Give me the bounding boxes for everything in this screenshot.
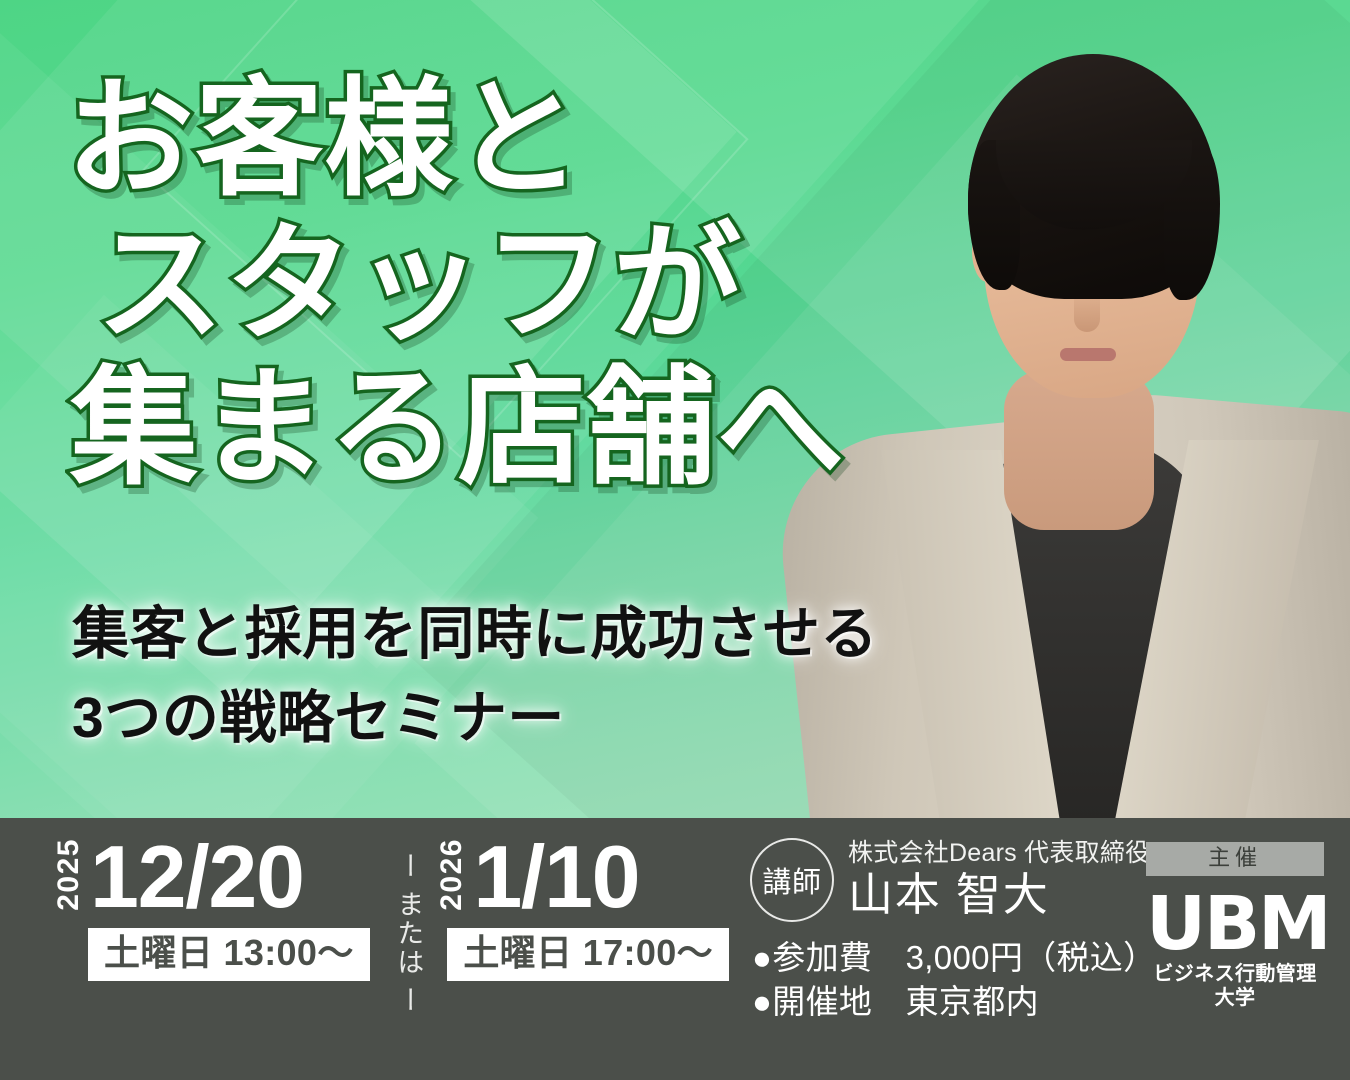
detail-venue: ●開催地 東京都内 <box>752 980 1156 1024</box>
footer-section: 2025 12/20 土曜日 13:00〜 ー または ー 2026 1/10 … <box>0 818 1350 1080</box>
speaker-name: 山本 智大 <box>848 869 1150 921</box>
mouth <box>1060 348 1116 361</box>
instructor-badge: 講師 <box>750 838 834 922</box>
subtitle: 集客と採用を同時に成功させる 3つの戦略セミナー <box>72 592 878 761</box>
subtitle-line-1: 集客と採用を同時に成功させる <box>72 592 878 676</box>
subtitle-line-2: 3つの戦略セミナー <box>72 676 878 760</box>
headline-line-1: お客様と <box>66 68 846 213</box>
date-block-1: 2025 12/20 土曜日 13:00〜 <box>54 836 370 981</box>
headline-line-2: スタッフが <box>66 213 846 358</box>
event-details: ●参加費 3,000円（税込） ●開催地 東京都内 <box>752 936 1156 1024</box>
date-separator: ー または ー <box>390 852 426 1015</box>
host-label: 主催 <box>1146 842 1324 876</box>
date-top-1: 2025 12/20 <box>54 836 370 919</box>
seminar-banner: お客様と スタッフが 集まる店舗へ 集客と採用を同時に成功させる 3つの戦略セミ… <box>0 0 1350 1080</box>
year-label-1: 2025 <box>54 838 84 911</box>
date-block-2: 2026 1/10 土曜日 17:00〜 <box>437 836 729 981</box>
date-value-2: 1/10 <box>473 836 639 919</box>
year-label-2: 2026 <box>437 838 467 911</box>
speaker-info: 講師 株式会社Dears 代表取締役 山本 智大 ●参加費 3,000円（税込）… <box>750 838 1156 1024</box>
date-group: 2025 12/20 土曜日 13:00〜 ー または ー 2026 1/10 … <box>54 836 729 1015</box>
headline-line-3: 集まる店舗へ <box>66 357 846 502</box>
hero-section: お客様と スタッフが 集まる店舗へ 集客と採用を同時に成功させる 3つの戦略セミ… <box>0 0 1350 818</box>
detail-fee: ●参加費 3,000円（税込） <box>752 936 1156 980</box>
speaker-row: 講師 株式会社Dears 代表取締役 山本 智大 <box>750 838 1156 922</box>
date-value-1: 12/20 <box>90 836 304 919</box>
speaker-text: 株式会社Dears 代表取締役 山本 智大 <box>848 839 1150 921</box>
date-top-2: 2026 1/10 <box>437 836 729 919</box>
speaker-organization: 株式会社Dears 代表取締役 <box>848 839 1150 867</box>
time-badge-2: 土曜日 17:00〜 <box>447 928 729 981</box>
time-badge-1: 土曜日 13:00〜 <box>88 928 370 981</box>
ubm-logo: UBM <box>1146 890 1324 958</box>
ubm-tagline: ビジネス行動管理大学 <box>1146 962 1324 1010</box>
headline: お客様と スタッフが 集まる店舗へ <box>66 68 846 502</box>
sponsor-block: 主催 UBM ビジネス行動管理大学 <box>1146 842 1324 1010</box>
